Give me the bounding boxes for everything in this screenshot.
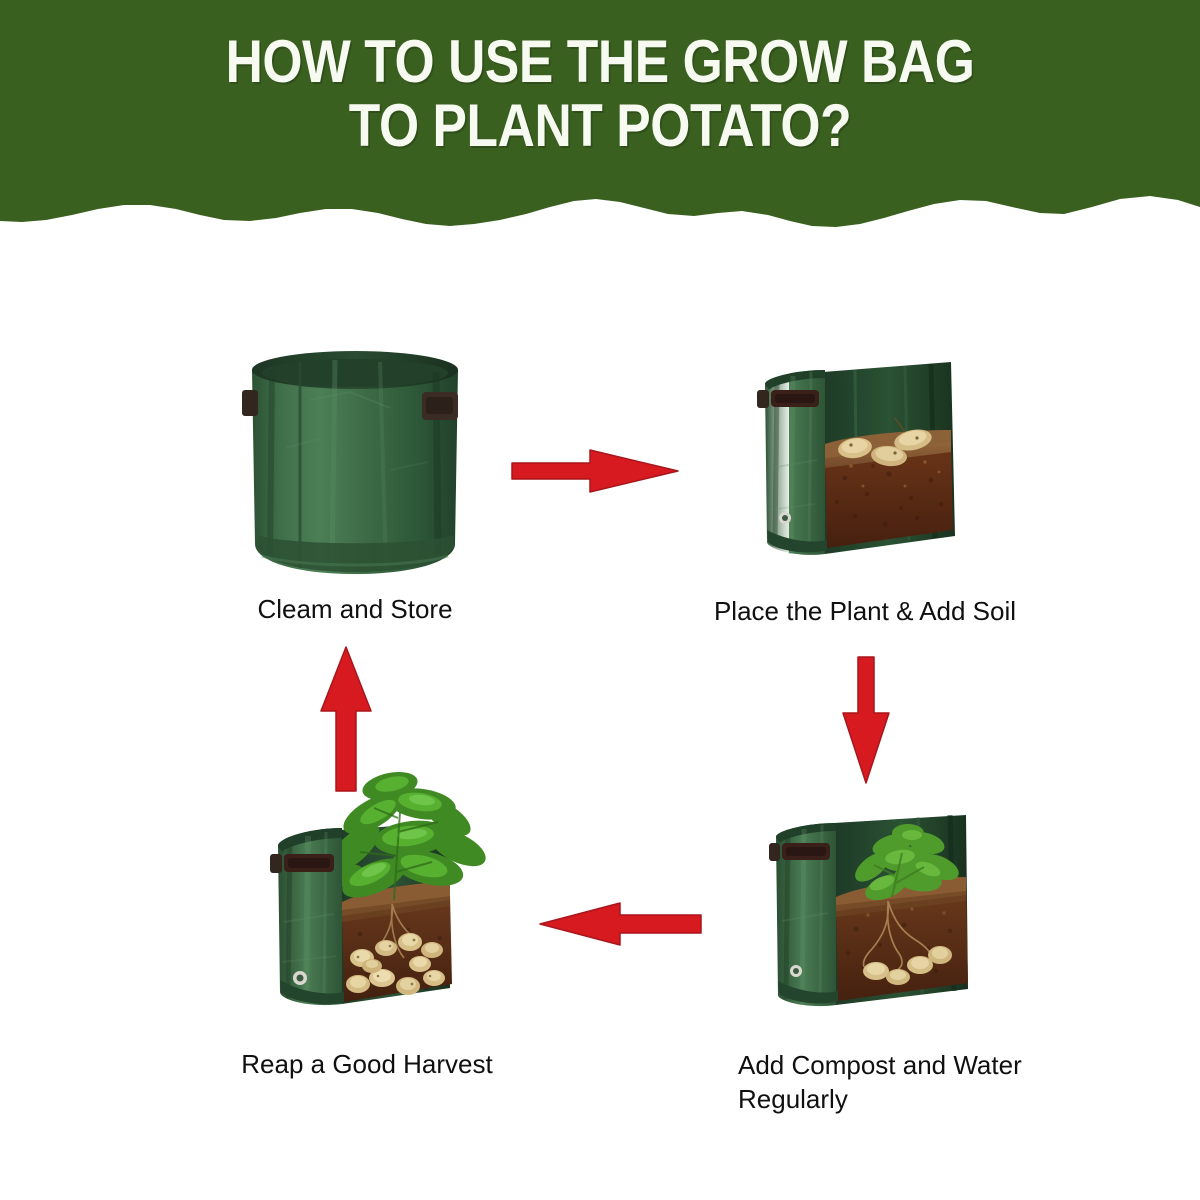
harvest-bag-graphic xyxy=(262,752,502,1042)
illustration-grow-bag-with-seed-potatoes xyxy=(755,348,970,588)
illustration-grow-bag-with-harvest xyxy=(262,752,502,1042)
header-banner: HOW TO USE THE GROW BAG TO PLANT POTATO? xyxy=(0,0,1200,245)
step-label-add-compost-and-water: Add Compost and Water Regularly xyxy=(738,1048,1138,1116)
header-torn-edge-shape xyxy=(0,0,1200,245)
step-label-clean-and-store: Cleam and Store xyxy=(190,592,520,626)
arrow-top-right-direction xyxy=(510,440,680,507)
arrow-down-icon xyxy=(835,655,897,785)
step-place-plant-add-soil: Place the Plant & Add Soil xyxy=(755,348,970,588)
young-plant-bag-graphic xyxy=(768,805,983,1040)
empty-grow-bag-graphic xyxy=(240,330,470,585)
bag-handle-left xyxy=(242,390,258,416)
arrow-right-down-direction xyxy=(835,655,897,790)
step-label-reap-good-harvest: Reap a Good Harvest xyxy=(187,1047,547,1081)
step-reap-good-harvest: Reap a Good Harvest xyxy=(262,752,502,1042)
arrow-right-icon xyxy=(510,440,680,502)
step-clean-and-store: Cleam and Store xyxy=(240,330,470,585)
step-add-compost-and-water: Add Compost and Water Regularly xyxy=(768,805,983,1040)
illustration-empty-grow-bag xyxy=(240,330,470,585)
arrow-up-icon xyxy=(315,645,377,793)
arrow-left-up-direction xyxy=(315,645,377,798)
arrow-left-icon xyxy=(538,895,703,953)
step-label-place-plant-add-soil: Place the Plant & Add Soil xyxy=(665,594,1065,628)
seed-potato-bag-graphic xyxy=(755,348,970,588)
illustration-grow-bag-with-young-plant xyxy=(768,805,983,1040)
arrow-bottom-left-direction xyxy=(538,895,703,958)
